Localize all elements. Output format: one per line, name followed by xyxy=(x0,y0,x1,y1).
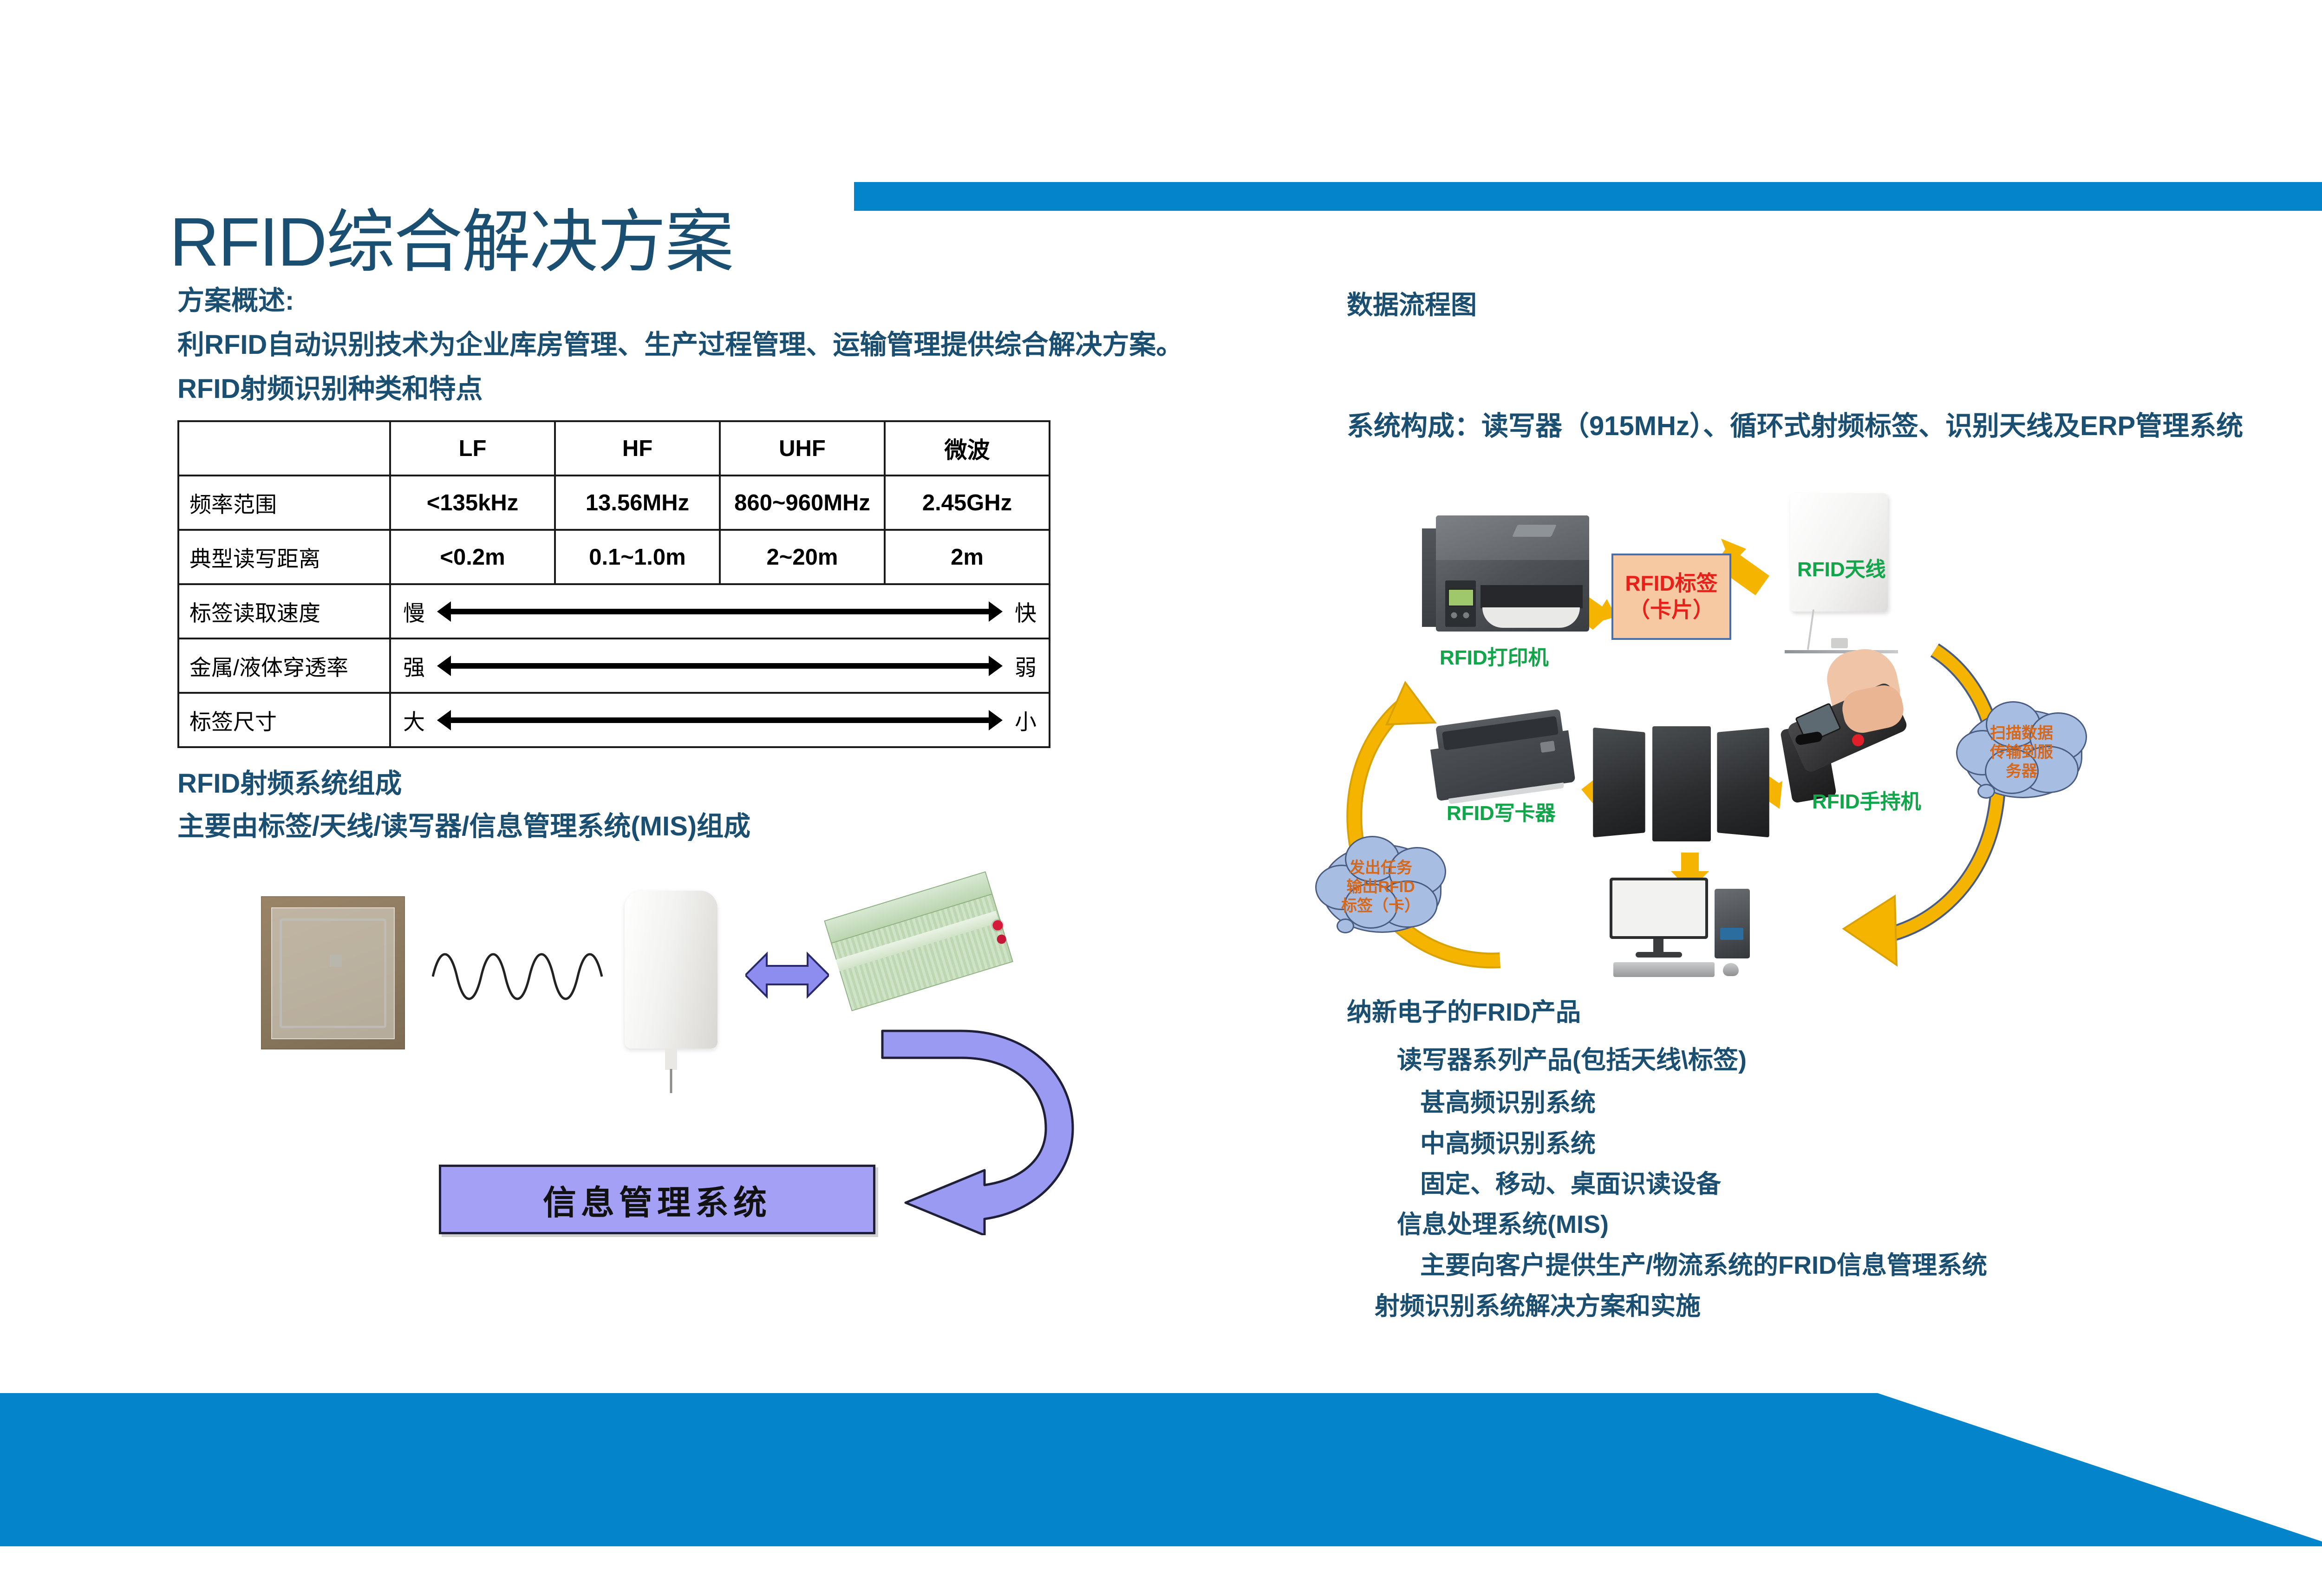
cell-freq-hf: 13.56MHz xyxy=(555,476,720,530)
types-heading: RFID射频识别种类和特点 xyxy=(177,367,483,406)
mis-box-label: 信息管理系统 xyxy=(543,1175,771,1224)
radio-wave-icon xyxy=(432,945,604,1008)
table-row: 频率范围 <135kHz 13.56MHz 860~960MHz 2.45GHz xyxy=(178,476,1050,530)
tag-card-line2: （卡片） xyxy=(1629,597,1714,624)
header-accent-bar xyxy=(854,182,2322,211)
rfid-printer-photo xyxy=(1422,515,1598,632)
cloud-task-output: 发出任务 输出RFID 标签（卡） xyxy=(1323,844,1439,930)
cell-freq-uhf: 860~960MHz xyxy=(720,476,885,530)
product-item-7: 射频识别系统解决方案和实施 xyxy=(1375,1285,1701,1322)
table-row: 标签读取速度 慢 快 xyxy=(178,584,1050,638)
cloud-left-line2: 输出RFID xyxy=(1346,878,1415,897)
gradient-tag-size: 大 小 xyxy=(390,693,1050,747)
gradient-read-speed: 慢 快 xyxy=(390,584,1050,638)
product-item-1: 读写器系列产品(包括天线\标签) xyxy=(1397,1039,1747,1076)
product-item-0: 纳新电子的FRID产品 xyxy=(1347,991,1581,1028)
table-row: 金属/液体穿透率 强 弱 xyxy=(178,638,1050,693)
row-header-frequency: 频率范围 xyxy=(178,476,390,530)
compose-heading: RFID射频系统组成 xyxy=(177,762,402,801)
printer-label: RFID打印机 xyxy=(1440,641,1549,671)
cell-freq-mw: 2.45GHz xyxy=(885,476,1050,530)
table-header-row: LF HF UHF 微波 xyxy=(178,421,1050,476)
gradient-left-label: 强 xyxy=(403,650,425,682)
gradient-right-label: 快 xyxy=(1015,595,1037,627)
product-item-5: 信息处理系统(MIS) xyxy=(1397,1204,1609,1240)
rfid-tag-card-box: RFID标签 （卡片） xyxy=(1611,554,1731,640)
cloud-left-line1: 发出任务 xyxy=(1349,859,1412,878)
row-header-distance: 典型读写距离 xyxy=(178,530,390,584)
dataflow-heading: 数据流程图 xyxy=(1347,284,1477,322)
overview-label: 方案概述: xyxy=(177,279,294,318)
product-item-3: 中高频识别系统 xyxy=(1420,1123,1596,1160)
table-col-uhf: UHF xyxy=(720,421,885,476)
cloud-right-line1: 扫描数据 xyxy=(1990,724,2053,743)
table-corner-cell xyxy=(178,421,390,476)
table-col-lf: LF xyxy=(390,421,555,476)
gradient-right-label: 弱 xyxy=(1015,650,1037,682)
mis-box: 信息管理系统 xyxy=(439,1165,875,1234)
rfid-handheld-photo xyxy=(1783,648,1918,801)
row-header-tag-size: 标签尺寸 xyxy=(178,693,390,747)
overview-body: 利RFID自动识别技术为企业库房管理、生产过程管理、运输管理提供综合解决方案。 xyxy=(177,323,1183,362)
cloud-right-line3: 务器 xyxy=(2006,762,2037,781)
gradient-right-label: 小 xyxy=(1015,704,1037,736)
system-composition: 系统构成：读写器（915MHz）、循环式射频标签、识别天线及ERP管理系统 xyxy=(1347,404,2243,443)
antenna-label: RFID天线 xyxy=(1797,553,1886,582)
page-title: RFID综合解决方案 xyxy=(170,186,733,286)
rfid-tag-photo xyxy=(261,896,405,1049)
gradient-left-label: 大 xyxy=(403,704,425,736)
tag-card-line1: RFID标签 xyxy=(1625,570,1717,597)
table-col-hf: HF xyxy=(555,421,720,476)
curved-arrow-icon xyxy=(873,1022,1096,1235)
cell-dist-lf: <0.2m xyxy=(390,530,555,584)
bidirectional-arrow-icon xyxy=(745,947,829,1003)
row-header-read-speed: 标签读取速度 xyxy=(178,584,390,638)
cloud-scan-upload: 扫描数据 传输到服 务器 xyxy=(1963,710,2080,795)
cell-dist-hf: 0.1~1.0m xyxy=(555,530,720,584)
product-item-6: 主要向客户提供生产/物流系统的FRID信息管理系统 xyxy=(1420,1244,1987,1281)
cell-dist-mw: 2m xyxy=(885,530,1050,584)
rfid-comparison-table: LF HF UHF 微波 频率范围 <135kHz 13.56MHz 860~9… xyxy=(177,420,1050,748)
desktop-pc-photo xyxy=(1607,878,1765,980)
row-header-penetration: 金属/液体穿透率 xyxy=(178,638,390,693)
server-stack-photo xyxy=(1593,730,1769,850)
table-row: 典型读写距离 <0.2m 0.1~1.0m 2~20m 2m xyxy=(178,530,1050,584)
rfid-antenna-photo xyxy=(625,891,717,1049)
cell-freq-lf: <135kHz xyxy=(390,476,555,530)
handheld-label: RFID手持机 xyxy=(1812,785,1921,814)
gradient-penetration: 强 弱 xyxy=(390,638,1050,693)
cloud-right-line2: 传输到服 xyxy=(1990,743,2053,762)
table-row: 标签尺寸 大 小 xyxy=(178,693,1050,747)
slide-canvas: RFID综合解决方案 方案概述: 利RFID自动识别技术为企业库房管理、生产过程… xyxy=(0,0,2322,1596)
table-col-mw: 微波 xyxy=(885,421,1050,476)
cloud-left-line3: 标签（卡） xyxy=(1341,897,1420,916)
product-item-4: 固定、移动、桌面识读设备 xyxy=(1420,1163,1721,1200)
gradient-left-label: 慢 xyxy=(403,595,425,627)
compose-body: 主要由标签/天线/读写器/信息管理系统(MIS)组成 xyxy=(177,804,750,843)
product-item-2: 甚高频识别系统 xyxy=(1420,1082,1596,1119)
cell-dist-uhf: 2~20m xyxy=(720,530,885,584)
footer-accent-shape xyxy=(0,1393,2322,1546)
rfid-data-flow-diagram: RFID打印机 RFID写卡器 RFID标签 （卡片） RFID天线 RFID手… xyxy=(1314,464,2113,984)
rfid-reader-photo xyxy=(824,872,1015,1023)
writer-label: RFID写卡器 xyxy=(1447,796,1556,826)
